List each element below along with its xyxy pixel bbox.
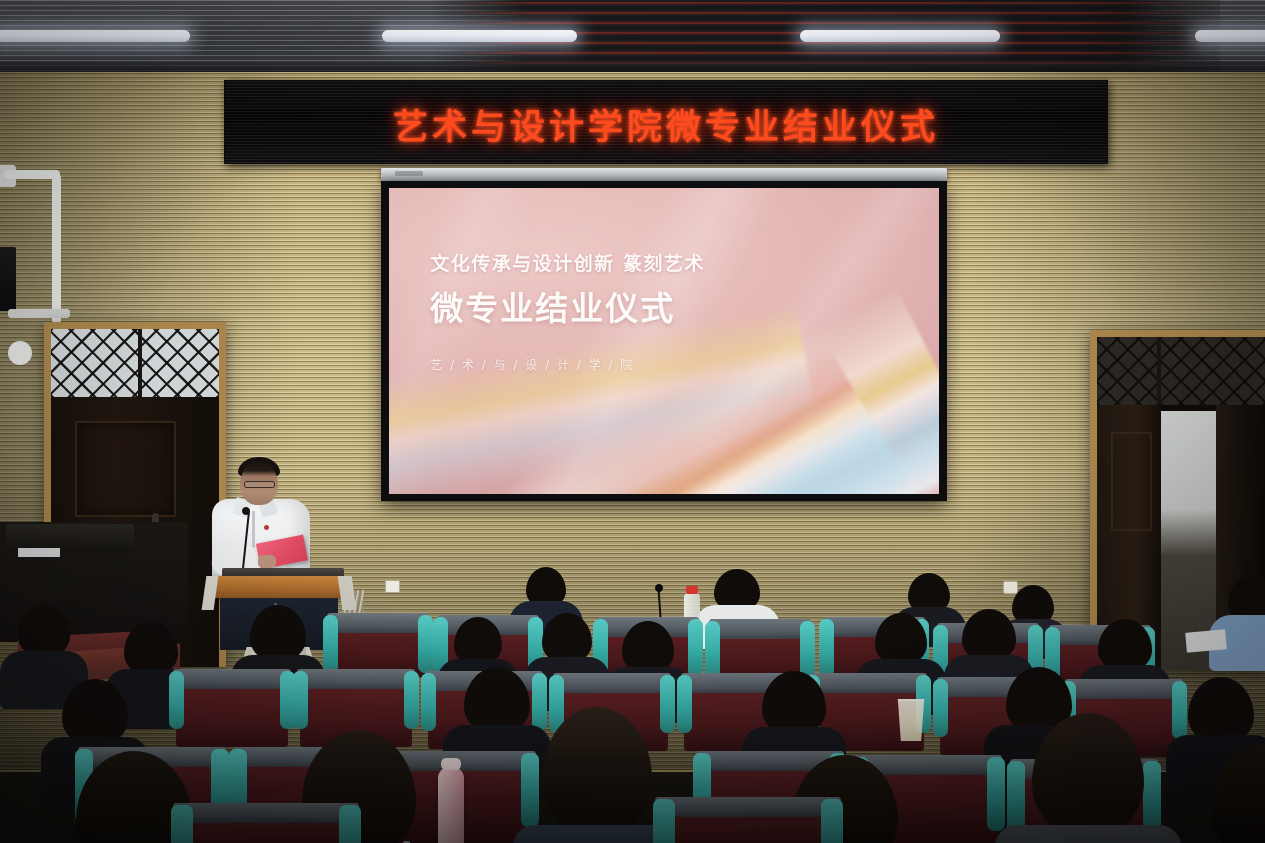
led-banner: 艺术与设计学院微专业结业仪式: [224, 80, 1108, 164]
seat-armrest: [418, 615, 433, 673]
seat-armrest: [653, 799, 675, 843]
microphone-head: [242, 507, 250, 515]
arm-vertical: [52, 174, 61, 324]
seat-desktop: [553, 673, 672, 693]
seat-armrest: [933, 679, 948, 737]
seat-armrest: [280, 671, 295, 729]
person-head: [62, 679, 128, 745]
audience-seating-area: [0, 555, 1265, 843]
seat-armrest: [404, 671, 419, 729]
lattice-grille-icon: [51, 329, 219, 397]
arm-knob: [8, 341, 32, 365]
audience-person: [462, 667, 532, 763]
person-head: [962, 609, 1016, 661]
slide-department: 艺 / 术 / 与 / 设 / 计 / 学 / 院: [430, 356, 705, 373]
person-head: [124, 621, 178, 675]
presentation-slide: 文化传承与设计创新 篆刻艺术 微专业结业仪式 艺 / 术 / 与 / 设 / 计…: [389, 188, 939, 494]
person-head: [622, 621, 674, 673]
seat-armrest: [1172, 681, 1187, 739]
seat-armrest: [171, 805, 193, 843]
seat-armrest: [677, 675, 692, 733]
seat-armrest: [705, 621, 720, 679]
seat-armrest: [339, 805, 361, 843]
person-head: [1032, 713, 1144, 833]
slide-subtitle: 文化传承与设计创新 篆刻艺术: [430, 249, 705, 276]
audience-person: [16, 605, 72, 683]
seat-armrest: [987, 757, 1005, 831]
seat-armrest: [819, 619, 834, 677]
door-transom-window-right: [1097, 337, 1265, 405]
audience-person-foreground: [1208, 745, 1265, 843]
ceiling-light-tube: [382, 30, 577, 42]
seat-desktop: [1065, 679, 1184, 699]
transom-mullion: [1157, 337, 1161, 405]
wall-monitor: [0, 247, 16, 311]
lapel-badge: [264, 525, 269, 530]
seat-armrest: [821, 799, 843, 843]
person-head: [1211, 745, 1265, 843]
seat[interactable]: [176, 683, 288, 747]
seat[interactable]: [178, 817, 354, 843]
ceiling-light-tube: [0, 30, 190, 42]
audience-person-foreground: [1030, 713, 1146, 843]
seat-desktop: [327, 613, 429, 633]
person-head: [875, 613, 927, 665]
slide-title: 微专业结业仪式: [430, 282, 705, 330]
person-body: [995, 825, 1181, 843]
seat-desktop: [173, 669, 292, 689]
person-head: [542, 707, 652, 831]
arm-base: [8, 309, 70, 318]
person-head: [1188, 677, 1254, 743]
housing-label: [395, 171, 423, 176]
seat-armrest: [421, 673, 436, 731]
bottle-cap: [686, 586, 698, 594]
transom-mullion: [138, 329, 142, 397]
pink-thermos-bottle: [438, 767, 464, 843]
bottle-cap: [441, 758, 461, 770]
seat-armrest: [323, 615, 338, 673]
projection-screen-frame: 文化传承与设计创新 篆刻艺术 微专业结业仪式 艺 / 术 / 与 / 设 / 计…: [381, 181, 947, 501]
seat-desktop: [709, 619, 811, 639]
bubble-tea-cup: [896, 699, 926, 741]
person-head: [1098, 619, 1152, 671]
seat-desktop: [173, 803, 360, 823]
person-head: [762, 671, 826, 735]
seat-desktop: [297, 669, 416, 689]
lattice-grille-icon: [1097, 337, 1265, 405]
seat[interactable]: [660, 811, 836, 843]
seat-armrest: [1007, 761, 1025, 835]
seat-armrest: [521, 753, 539, 827]
person-head: [18, 605, 70, 657]
seat-desktop: [655, 797, 842, 817]
auditorium-photo: 艺术与设计学院微专业结业仪式 文化传承与设计创新 篆刻艺术 微专业结业仪式 艺 …: [0, 0, 1265, 843]
person-head: [464, 667, 530, 733]
audience-person-foreground: [540, 707, 654, 843]
seat-armrest: [660, 675, 675, 733]
slide-text-block: 文化传承与设计创新 篆刻艺术 微专业结业仪式 艺 / 术 / 与 / 设 / 计…: [430, 249, 705, 373]
wall-mount-arm: [0, 165, 62, 335]
glasses-icon: [244, 481, 275, 488]
seat-armrest: [688, 619, 703, 677]
ceiling-light-tube: [1195, 30, 1265, 42]
seat-armrest: [169, 671, 184, 729]
person-head: [542, 613, 592, 663]
led-banner-text: 艺术与设计学院微专业结业仪式: [393, 99, 939, 150]
audience-person: [1225, 577, 1265, 641]
papers-on-desk: [1185, 629, 1227, 652]
projection-screen-housing: [381, 168, 947, 181]
seat-armrest: [293, 671, 308, 729]
person-head: [454, 617, 502, 665]
door-transom-window-left: [51, 329, 219, 397]
person-head: [250, 605, 306, 661]
ceiling-light-tube: [800, 30, 1000, 42]
